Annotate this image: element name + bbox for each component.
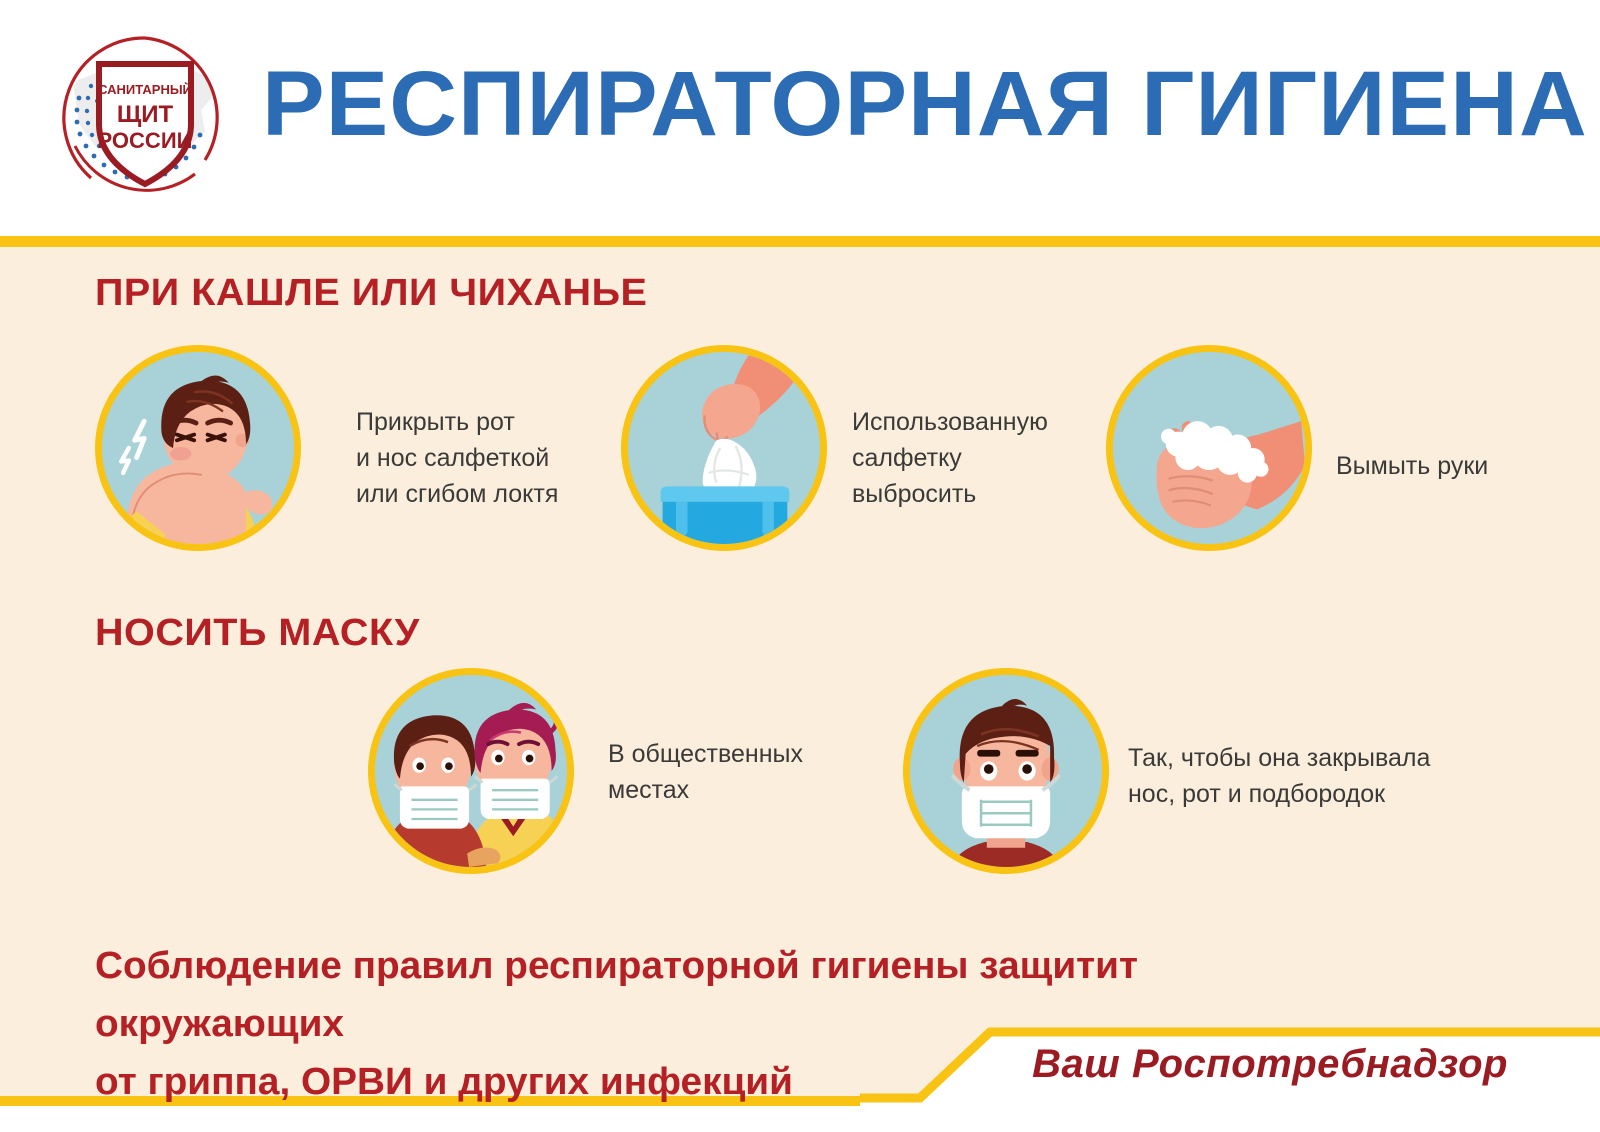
caption-public-places: В общественных местах bbox=[608, 736, 838, 808]
organization-signature: Ваш Роспотребнадзор bbox=[1032, 1042, 1508, 1087]
poster-header: САНИТАРНЫЙ ЩИТ РОССИИ РЕСПИРАТОРНАЯ ГИГИ… bbox=[0, 0, 1600, 236]
header-divider-rule bbox=[0, 236, 1600, 247]
sneeze-into-elbow-icon bbox=[95, 345, 301, 551]
discard-tissue-in-bin-icon bbox=[621, 345, 827, 551]
wash-hands-icon bbox=[1106, 345, 1312, 551]
caption-wash-hands: Вымыть руки bbox=[1336, 448, 1576, 484]
logo-line-3: РОССИИ bbox=[98, 128, 193, 153]
person-mask-correct-fit-icon bbox=[903, 668, 1109, 874]
section-heading-mask: НОСИТЬ МАСКУ bbox=[95, 612, 420, 655]
caption-mask-fit: Так, чтобы она закрывала нос, рот и подб… bbox=[1128, 740, 1458, 812]
page-title: РЕСПИРАТОРНАЯ ГИГИЕНА bbox=[262, 58, 1588, 150]
poster-root: САНИТАРНЫЙ ЩИТ РОССИИ РЕСПИРАТОРНАЯ ГИГИ… bbox=[0, 0, 1600, 1132]
logo-line-1: САНИТАРНЫЙ bbox=[98, 82, 192, 97]
section-heading-cough: ПРИ КАШЛЕ ИЛИ ЧИХАНЬЕ bbox=[95, 272, 647, 315]
sanitary-shield-logo: САНИТАРНЫЙ ЩИТ РОССИИ bbox=[55, 28, 235, 208]
caption-cover-mouth: Прикрыть рот и нос салфеткой или сгибом … bbox=[356, 404, 586, 512]
two-people-wearing-masks-icon bbox=[368, 668, 574, 874]
caption-discard-tissue: Использованную салфетку выбросить bbox=[852, 404, 1082, 512]
logo-line-2: ЩИТ bbox=[117, 101, 174, 128]
